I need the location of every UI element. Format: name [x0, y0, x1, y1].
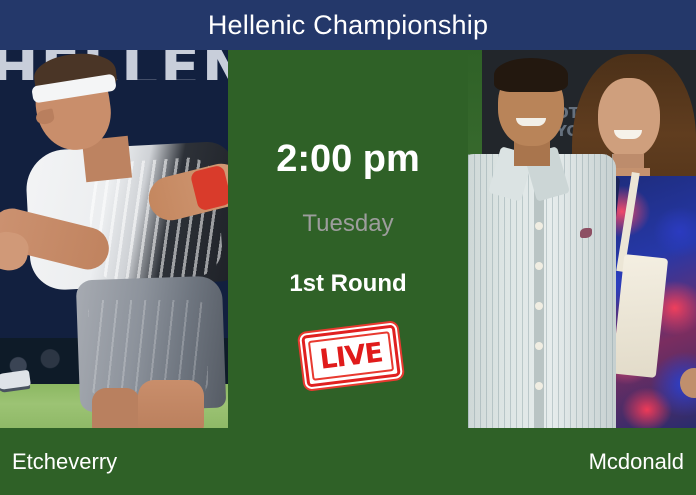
live-badge[interactable]: LIVE — [301, 324, 401, 387]
man-smile — [516, 118, 546, 126]
match-body: HELLEN 2:00 pm Tuesday 1st Round — [0, 50, 696, 428]
man-hair — [494, 58, 568, 92]
player-leg-front — [138, 380, 204, 428]
live-badge-wrapper[interactable]: LIVE — [296, 324, 400, 384]
woman-face — [598, 78, 660, 158]
player-names-bar: Etcheverry Mcdonald — [0, 428, 696, 495]
match-time: 2:00 pm — [276, 140, 420, 178]
man-shirt-button — [535, 302, 543, 310]
live-badge-label: LIVE — [318, 339, 383, 373]
man-shirt-logo — [580, 228, 592, 238]
player-leg-back — [92, 388, 140, 428]
player-left-name[interactable]: Etcheverry — [12, 451, 117, 473]
match-preview-card: Hellenic Championship HELLEN — [0, 0, 696, 495]
match-day: Tuesday — [302, 212, 393, 236]
tournament-header: Hellenic Championship — [0, 0, 696, 50]
match-info-panel: 2:00 pm Tuesday 1st Round LIVE — [228, 50, 468, 428]
player-left-photo[interactable]: HELLEN — [0, 50, 228, 428]
match-round: 1st Round — [289, 272, 406, 296]
man-shirt-button — [535, 382, 543, 390]
player-right-name[interactable]: Mcdonald — [589, 451, 684, 473]
man-shirt-button — [535, 342, 543, 350]
man-shirt-button — [535, 262, 543, 270]
page-title: Hellenic Championship — [208, 12, 488, 39]
man-shirt-button — [535, 222, 543, 230]
player-right-photo[interactable]: OTE YOR — [468, 50, 696, 428]
